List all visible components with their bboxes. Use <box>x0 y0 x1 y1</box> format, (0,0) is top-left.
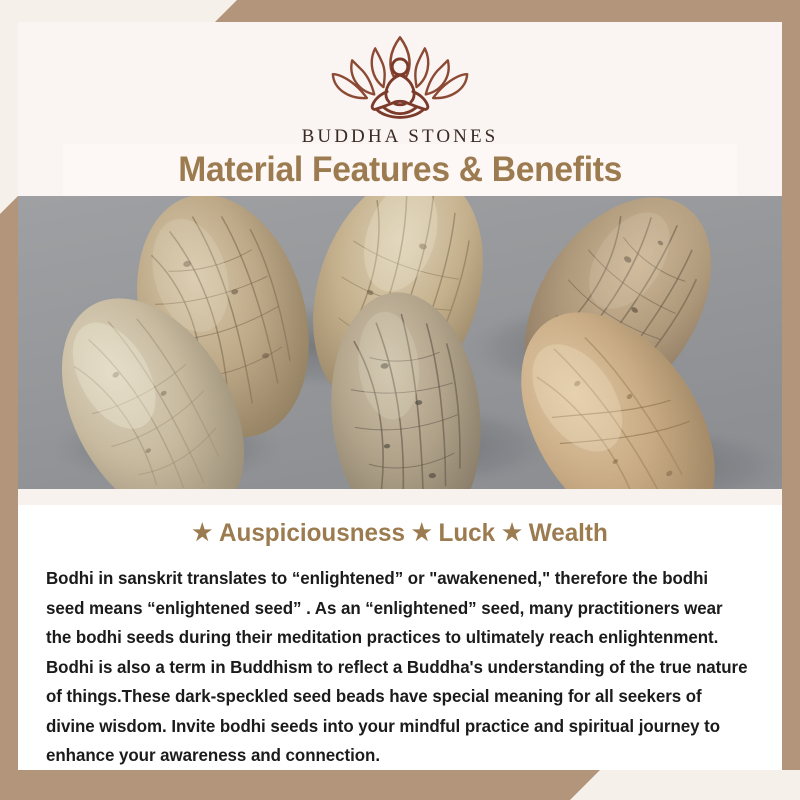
benefit-wealth: Wealth <box>529 519 608 547</box>
poster-root: BUDDHA STONES Material Features & Benefi… <box>0 0 800 800</box>
frame-band-right <box>782 0 800 770</box>
frame-band-left <box>0 196 18 800</box>
star-icon-2: ★ <box>412 519 432 545</box>
benefit-auspiciousness: Auspiciousness <box>219 519 405 547</box>
content-top-strip <box>18 489 782 505</box>
content-section: ★Auspiciousness★Luck★Wealth Bodhi in san… <box>18 489 782 770</box>
product-photo: Bodhi Seed <box>18 196 782 489</box>
star-icon-3: ★ <box>502 519 522 545</box>
brand-logo <box>305 30 495 122</box>
star-icon-1: ★ <box>192 519 212 545</box>
benefits-heading: ★Auspiciousness★Luck★Wealth <box>29 519 770 548</box>
title-bar: Material Features & Benefits <box>63 144 737 196</box>
frame-band-top <box>215 0 800 22</box>
benefit-luck: Luck <box>439 519 496 547</box>
description-paragraph: Bodhi in sanskrit translates to “enlight… <box>46 564 749 771</box>
header: BUDDHA STONES Material Features & Benefi… <box>18 22 782 196</box>
frame-band-bottom <box>0 770 600 800</box>
page-title: Material Features & Benefits <box>178 150 622 190</box>
bodhi-seeds-image <box>18 196 782 489</box>
lotus-meditation-icon <box>305 30 495 122</box>
